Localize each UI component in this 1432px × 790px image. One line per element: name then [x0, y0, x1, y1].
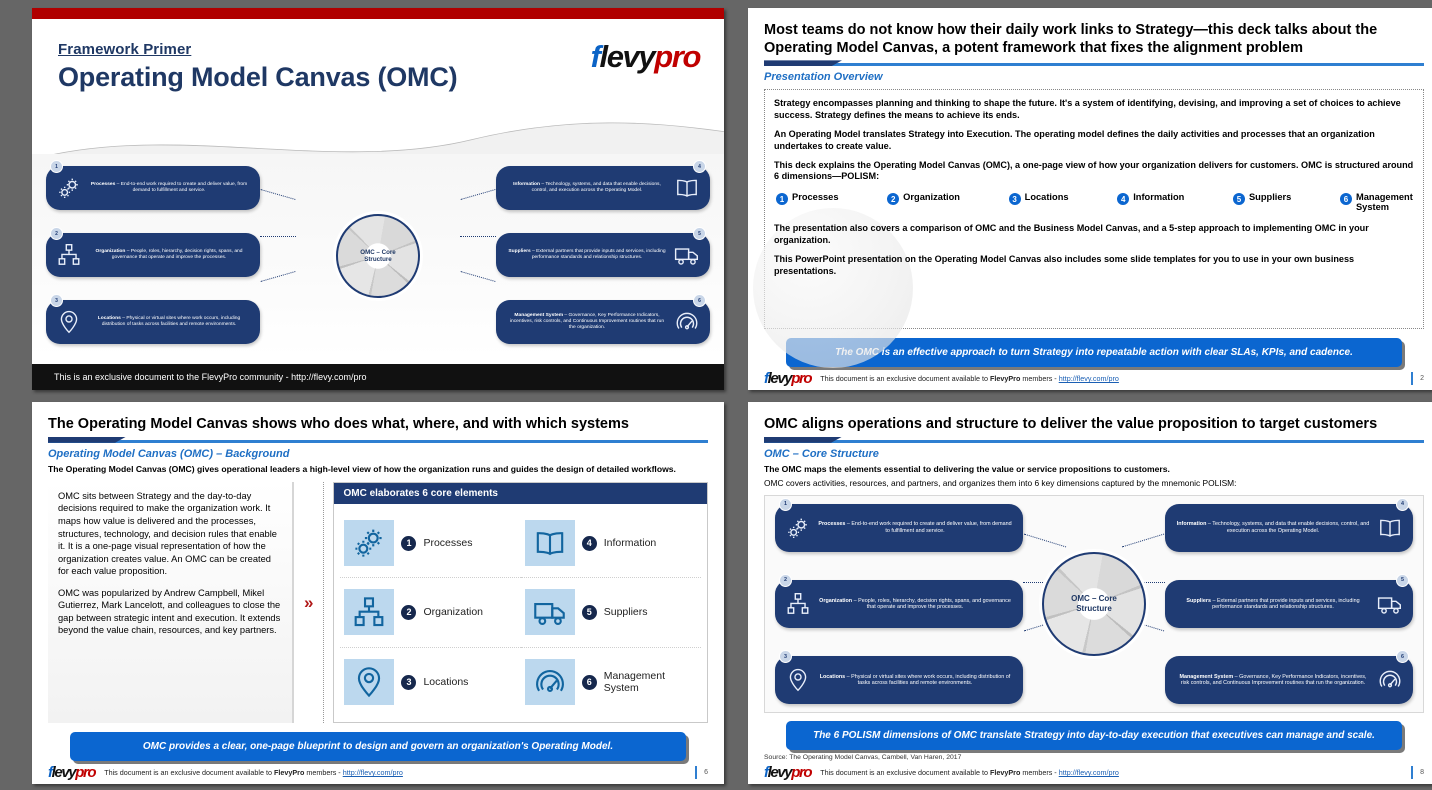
dimension-number-3: 3: [1009, 193, 1021, 205]
logo-pro: pro: [791, 764, 811, 781]
omc-desc-3: – Physical or virtual sites where work o…: [102, 316, 241, 327]
dimension-item-locations[interactable]: 3Locations: [1009, 192, 1069, 212]
chevron-right-icon: »: [303, 594, 314, 611]
page-number-group: 6: [695, 766, 708, 779]
background-paragraph-1: OMC sits between Strategy and the day-to…: [58, 490, 282, 578]
slide-4-footer-wrap: flevypro This document is an exclusive d…: [764, 761, 1424, 784]
overview-paragraph-1: Strategy encompasses planning and thinki…: [774, 98, 1414, 122]
omc-title-6: Management System: [1180, 674, 1234, 680]
logo-pro: pro: [75, 764, 95, 781]
omc-badge-4: 4: [1396, 498, 1409, 511]
connector-1: [1024, 533, 1066, 547]
core-element-label-5: Suppliers: [604, 606, 648, 618]
omc-title-3: Locations: [820, 674, 845, 680]
gears-icon: [785, 515, 811, 541]
core-element-organization[interactable]: 2 Organization: [340, 578, 520, 647]
slide-3-banner-wrap: OMC provides a clear, one-page blueprint…: [48, 723, 708, 761]
connector-4: [1122, 533, 1164, 547]
omc-pill-text-3: Locations – Physical or virtual sites wh…: [817, 674, 1013, 687]
title-rule: [48, 440, 708, 443]
flevypro-logo: flevypro: [591, 41, 700, 72]
footer-pre: This document is an exclusive document a…: [820, 768, 990, 777]
background-text-panel: OMC sits between Strategy and the day-to…: [48, 482, 294, 723]
omc-title-3: Locations: [98, 316, 121, 321]
connector-2: [260, 236, 296, 237]
logo-levy: levy: [600, 39, 655, 74]
slide-footer: flevypro This document is an exclusive d…: [764, 761, 1424, 780]
core-element-number-3: 3: [401, 675, 416, 690]
omc-desc-5: – External partners that provide inputs …: [1211, 598, 1360, 610]
page-divider: [1411, 372, 1413, 385]
omc-pill-suppliers[interactable]: 5 Suppliers – External partners that pro…: [1165, 580, 1413, 628]
hub-label-wrap: OMC – Core Structure: [1071, 594, 1117, 613]
hub-line-1: OMC – Core: [1071, 594, 1117, 604]
core-element-management-system[interactable]: 6 Management System: [521, 648, 701, 717]
footer-mid: members -: [304, 768, 342, 777]
omc-core-structure-diagram: 1 Processes – End-to-end work required t…: [764, 495, 1424, 713]
omc-badge-3: 3: [50, 294, 63, 307]
key-message-banner: The OMC is an effective approach to turn…: [786, 338, 1402, 367]
footer-bold: FlevyPro: [274, 768, 304, 777]
omc-pill-text-5: Suppliers – External partners that provi…: [1175, 598, 1371, 611]
omc-pill-text-1: Processes – End-to-end work required to …: [88, 182, 250, 194]
omc-desc-1: – End-to-end work required to create and…: [845, 521, 1011, 533]
slide-deck-thumbnail-grid: Framework Primer Operating Model Canvas …: [0, 0, 1432, 790]
footer-bold: FlevyPro: [990, 374, 1020, 383]
omc-badge-6: 6: [693, 294, 706, 307]
dimension-label-4: Information: [1133, 192, 1184, 202]
section-lede-secondary: OMC covers activities, resources, and pa…: [764, 478, 1424, 489]
dimension-item-suppliers[interactable]: 5Suppliers: [1233, 192, 1291, 212]
overview-paragraph-5: This PowerPoint presentation on the Oper…: [774, 254, 1414, 278]
omc-desc-3: – Physical or virtual sites where work o…: [845, 674, 1010, 686]
section-subtitle: Operating Model Canvas (OMC) – Backgroun…: [48, 448, 708, 460]
page-title: OMC aligns operations and structure to d…: [764, 416, 1424, 434]
org-chart-icon: [56, 242, 82, 268]
omc-hub-diagram-1: 1 Processes – End-to-end work required t…: [32, 154, 724, 358]
omc-badge-2: 2: [50, 227, 63, 240]
dimension-label-5: Suppliers: [1249, 192, 1291, 202]
open-book-icon: [1377, 515, 1403, 541]
omc-title-5: Suppliers: [508, 249, 530, 254]
omc-pill-text-4: Information – Technology, systems, and d…: [506, 182, 668, 194]
dimension-label-1: Processes: [792, 192, 839, 202]
omc-desc-1: – End-to-end work required to create and…: [115, 182, 247, 193]
core-element-label-6: Management System: [604, 670, 697, 694]
gears-icon: [56, 175, 82, 201]
slide-1-footer-text: This is an exclusive document to the Fle…: [54, 372, 366, 382]
gauge-icon: [1377, 667, 1403, 693]
core-element-number-2: 2: [401, 605, 416, 620]
omc-pill-management-system[interactable]: 6 Management System – Governance, Key Pe…: [1165, 656, 1413, 704]
omc-desc-5: – External partners that provide inputs …: [531, 249, 666, 260]
hub-line-1: OMC – Core: [360, 249, 395, 256]
location-pin-icon: [344, 659, 394, 705]
core-element-label-3: Locations: [423, 676, 468, 688]
omc-pill-text-2: Organization – People, roles, hierarchy,…: [817, 598, 1013, 611]
source-note: Source: The Operating Model Canvas, Camb…: [764, 754, 1424, 761]
slide-3-omc-background[interactable]: The Operating Model Canvas shows who doe…: [32, 402, 724, 784]
section-subtitle: Presentation Overview: [764, 71, 1424, 83]
slide-footer: flevypro This document is an exclusive d…: [48, 761, 708, 780]
location-pin-icon: [56, 309, 82, 335]
omc-title-1: Processes: [818, 521, 845, 527]
logo-levy: levy: [52, 764, 76, 781]
slide-2-footer-wrap: flevypro This document is an exclusive d…: [764, 367, 1424, 390]
polism-dimension-list: 1Processes 2Organization 3Locations 4Inf…: [774, 190, 1414, 212]
omc-desc-2: – People, roles, hierarchy, decision rig…: [112, 249, 243, 260]
page-number-group: 8: [1411, 766, 1424, 779]
background-paragraph-2: OMC was popularized by Andrew Campbell, …: [58, 587, 282, 637]
dimension-number-6: 6: [1340, 193, 1352, 205]
title-rule: [764, 63, 1424, 66]
key-message-banner: The 6 POLISM dimensions of OMC translate…: [786, 721, 1402, 750]
omc-right-column: 4 Information – Technology, systems, and…: [1165, 496, 1413, 712]
omc-pill-text-6: Management System – Governance, Key Perf…: [506, 313, 668, 330]
footer-link[interactable]: http://flevy.com/pro: [343, 768, 403, 777]
omc-pill-information[interactable]: 4 Information – Technology, systems, and…: [496, 166, 710, 210]
footer-text: This document is an exclusive document a…: [820, 768, 1119, 777]
open-book-icon: [674, 175, 700, 201]
connector-5: [460, 236, 496, 237]
org-chart-icon: [785, 591, 811, 617]
core-element-label-1: Processes: [423, 537, 472, 549]
core-element-label-4: Information: [604, 537, 657, 549]
dimension-label-6: Management System: [1356, 192, 1414, 212]
hub-line-2: Structure: [360, 256, 395, 263]
connector-1: [261, 189, 296, 200]
dimension-number-1: 1: [776, 193, 788, 205]
slide-4-omc-core-structure[interactable]: OMC aligns operations and structure to d…: [748, 402, 1432, 784]
omc-title-4: Information: [513, 182, 540, 187]
omc-desc-2: – People, roles, hierarchy, decision rig…: [852, 598, 1011, 610]
omc-title-2: Organization: [819, 598, 852, 604]
overview-paragraph-3: This deck explains the Operating Model C…: [774, 160, 1414, 184]
omc-title-6: Management System: [514, 313, 563, 318]
dimension-number-5: 5: [1233, 193, 1245, 205]
slide-2-banner-wrap: The OMC is an effective approach to turn…: [764, 329, 1424, 367]
footer-link[interactable]: http://flevy.com/pro: [1059, 768, 1119, 777]
omc-pill-text-6: Management System – Governance, Key Perf…: [1175, 674, 1371, 687]
flevypro-logo: flevypro: [764, 765, 811, 780]
connector-3: [261, 271, 296, 282]
dimension-item-processes[interactable]: 1Processes: [776, 192, 839, 212]
omc-pill-locations[interactable]: 3 Locations – Physical or virtual sites …: [46, 300, 260, 344]
slide-2-presentation-overview[interactable]: Most teams do not know how their daily w…: [748, 8, 1432, 390]
omc-pill-text-2: Organization – People, roles, hierarchy,…: [88, 249, 250, 261]
truck-icon: [1377, 591, 1403, 617]
dimension-item-management-system[interactable]: 6Management System: [1340, 192, 1414, 212]
panel-title: OMC elaborates 6 core elements: [334, 483, 707, 504]
omc-core-hub-4: OMC – Core Structure: [1042, 552, 1146, 656]
section-lede: The OMC maps the elements essential to d…: [764, 464, 1424, 475]
page-divider: [1411, 766, 1413, 779]
core-element-number-4: 4: [582, 536, 597, 551]
overview-box: Strategy encompasses planning and thinki…: [764, 89, 1424, 329]
title-rule: [764, 440, 1424, 443]
connector-4: [461, 189, 496, 200]
overview-paragraph-4: The presentation also covers a compariso…: [774, 223, 1414, 247]
footer-mid: members -: [1020, 768, 1058, 777]
page-title: The Operating Model Canvas shows who doe…: [48, 416, 708, 434]
footer-mid: members -: [1020, 374, 1058, 383]
omc-pill-organization[interactable]: 2 Organization – People, roles, hierarch…: [775, 580, 1023, 628]
logo-levy: levy: [768, 370, 792, 387]
omc-right-column: 4 Information – Technology, systems, and…: [496, 154, 710, 358]
key-message-banner: OMC provides a clear, one-page blueprint…: [70, 732, 686, 761]
logo-pro: pro: [791, 370, 811, 387]
omc-left-column: 1 Processes – End-to-end work required t…: [775, 496, 1023, 712]
slide-1-title[interactable]: Framework Primer Operating Model Canvas …: [32, 8, 724, 390]
omc-badge-1: 1: [50, 160, 63, 173]
omc-pill-management-system[interactable]: 6 Management System – Governance, Key Pe…: [496, 300, 710, 344]
slide-1-diagram-area: 1 Processes – End-to-end work required t…: [32, 154, 724, 358]
logo-pro: pro: [654, 39, 700, 74]
page-number: 8: [1420, 769, 1424, 776]
omc-pill-text-4: Information – Technology, systems, and d…: [1175, 521, 1371, 534]
dimension-label-3: Locations: [1025, 192, 1069, 202]
omc-core-hub-1: OMC – Core Structure: [336, 214, 420, 298]
omc-pill-processes[interactable]: 1 Processes – End-to-end work required t…: [775, 504, 1023, 552]
open-book-icon: [525, 520, 575, 566]
omc-pill-text-1: Processes – End-to-end work required to …: [817, 521, 1013, 534]
omc-title-5: Suppliers: [1186, 598, 1211, 604]
flevypro-logo: flevypro: [764, 371, 811, 386]
footer-text: This document is an exclusive document a…: [820, 374, 1119, 383]
core-element-number-6: 6: [582, 675, 597, 690]
page-title: Most teams do not know how their daily w…: [764, 22, 1424, 57]
page-number: 6: [704, 769, 708, 776]
omc-pill-processes[interactable]: 1 Processes – End-to-end work required t…: [46, 166, 260, 210]
omc-badge-1: 1: [779, 498, 792, 511]
omc-hub-diagram-4: 1 Processes – End-to-end work required t…: [765, 496, 1423, 712]
omc-pill-locations[interactable]: 3 Locations – Physical or virtual sites …: [775, 656, 1023, 704]
dimension-label-2: Organization: [903, 192, 960, 202]
omc-badge-6: 6: [1396, 650, 1409, 663]
logo-levy: levy: [768, 764, 792, 781]
omc-title-1: Processes: [91, 182, 115, 187]
connector-6: [461, 271, 496, 282]
slide-4-banner-wrap: The 6 POLISM dimensions of OMC translate…: [764, 713, 1424, 750]
omc-pill-text-3: Locations – Physical or virtual sites wh…: [88, 316, 250, 328]
gauge-icon: [525, 659, 575, 705]
core-element-number-1: 1: [401, 536, 416, 551]
omc-title-4: Information: [1177, 521, 1207, 527]
core-elements-panel: OMC elaborates 6 core elements 1 Process…: [333, 482, 708, 723]
omc-badge-5: 5: [1396, 574, 1409, 587]
slide-footer: flevypro This document is an exclusive d…: [764, 367, 1424, 386]
gauge-icon: [674, 309, 700, 335]
dimension-number-2: 2: [887, 193, 899, 205]
core-element-number-5: 5: [582, 605, 597, 620]
core-elements-grid: 1 Processes 4 Information: [334, 504, 707, 722]
omc-badge-2: 2: [779, 574, 792, 587]
dimension-item-information[interactable]: 4Information: [1117, 192, 1184, 212]
omc-pill-text-5: Suppliers – External partners that provi…: [506, 249, 668, 261]
omc-title-2: Organization: [96, 249, 126, 254]
section-subtitle: OMC – Core Structure: [764, 448, 1424, 460]
core-element-label-2: Organization: [423, 606, 483, 618]
slide-3-footer-wrap: flevypro This document is an exclusive d…: [48, 761, 708, 784]
dimension-item-organization[interactable]: 2Organization: [887, 192, 960, 212]
page-number-group: 2: [1411, 372, 1424, 385]
omc-left-column: 1 Processes – End-to-end work required t…: [46, 154, 260, 358]
hub-label-wrap: OMC – Core Structure: [360, 249, 395, 264]
dimension-number-4: 4: [1117, 193, 1129, 205]
omc-desc-4: – Technology, systems, and data that ena…: [532, 182, 661, 193]
footer-text: This document is an exclusive document a…: [104, 768, 403, 777]
red-accent-bar: [32, 8, 724, 19]
overview-paragraph-2: An Operating Model translates Strategy i…: [774, 129, 1414, 153]
omc-badge-5: 5: [693, 227, 706, 240]
gears-icon: [344, 520, 394, 566]
footer-bold: FlevyPro: [990, 768, 1020, 777]
omc-pill-information[interactable]: 4 Information – Technology, systems, and…: [1165, 504, 1413, 552]
page-divider: [695, 766, 697, 779]
omc-pill-suppliers[interactable]: 5 Suppliers – External partners that pro…: [496, 233, 710, 277]
core-element-locations[interactable]: 3 Locations: [340, 648, 520, 717]
footer-pre: This document is an exclusive document a…: [820, 374, 990, 383]
page-number: 2: [1420, 375, 1424, 382]
omc-badge-3: 3: [779, 650, 792, 663]
logo-f: f: [591, 39, 600, 74]
omc-desc-4: – Technology, systems, and data that ena…: [1206, 521, 1369, 533]
slide-1-footer: This is an exclusive document to the Fle…: [32, 364, 724, 390]
omc-pill-organization[interactable]: 2 Organization – People, roles, hierarch…: [46, 233, 260, 277]
omc-badge-4: 4: [693, 160, 706, 173]
location-pin-icon: [785, 667, 811, 693]
section-lede: The Operating Model Canvas (OMC) gives o…: [48, 464, 708, 475]
footer-link[interactable]: http://flevy.com/pro: [1059, 374, 1119, 383]
core-element-processes[interactable]: 1 Processes: [340, 509, 520, 578]
org-chart-icon: [344, 589, 394, 635]
hub-line-2: Structure: [1071, 604, 1117, 614]
footer-pre: This document is an exclusive document a…: [104, 768, 274, 777]
truck-icon: [674, 242, 700, 268]
flevypro-logo: flevypro: [48, 765, 95, 780]
slide-3-body: OMC sits between Strategy and the day-to…: [48, 482, 708, 723]
core-element-information[interactable]: 4 Information: [521, 509, 701, 578]
vertical-dotted-divider: [323, 482, 324, 723]
truck-icon: [525, 589, 575, 635]
core-element-suppliers[interactable]: 5 Suppliers: [521, 578, 701, 647]
